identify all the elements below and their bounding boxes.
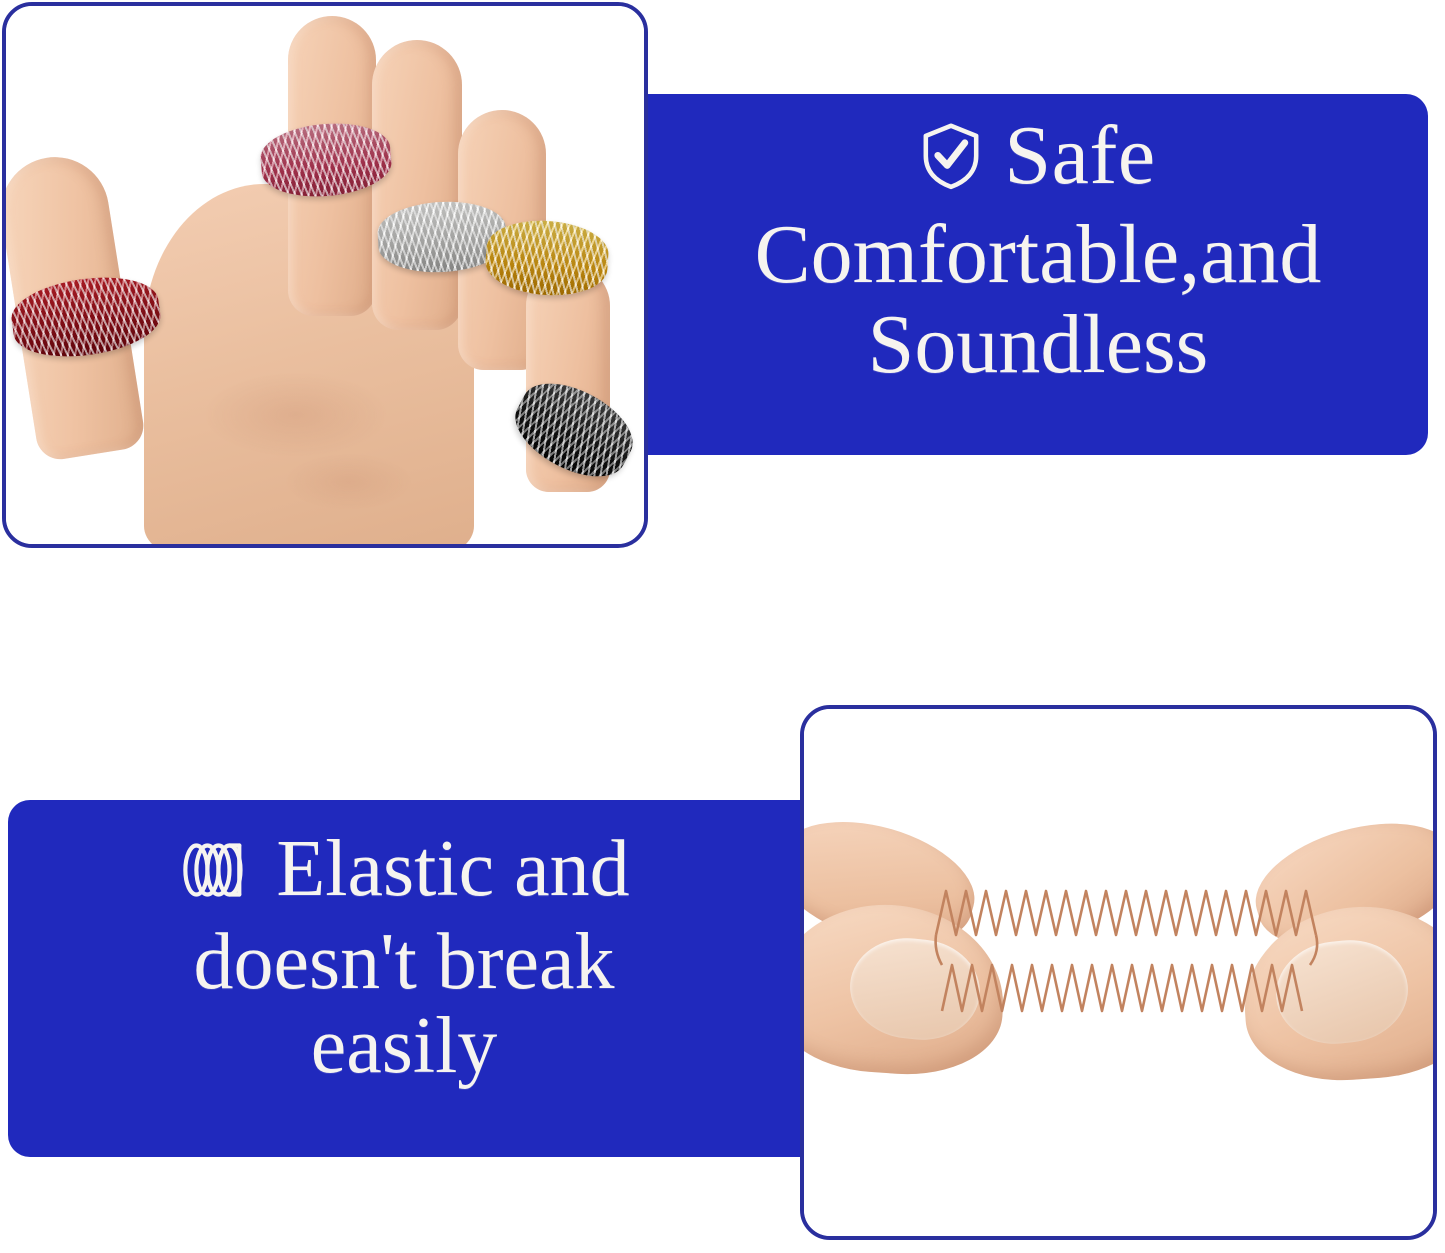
feature-banner-safe: Safe Comfortable,and Soundless — [648, 94, 1428, 455]
spring-ring-gold — [484, 217, 611, 299]
shield-check-icon — [920, 122, 982, 190]
spring-ring-pink — [258, 118, 394, 201]
feature-banner-elastic: Elastic and doesn't break easily — [8, 800, 800, 1157]
feature-line-3: easily — [311, 1006, 498, 1088]
feature-line-3: Soundless — [868, 302, 1209, 388]
stretched-coil-spring — [932, 877, 1322, 1025]
product-feature-infographic: Safe Comfortable,and Soundless Elastic a… — [0, 0, 1445, 1253]
feature-line-2: Comfortable,and — [755, 212, 1322, 298]
feature-line-1: Elastic and — [276, 829, 629, 911]
feature-line-2: doesn't break — [194, 922, 615, 1004]
feature-headline-row: Safe — [920, 100, 1155, 212]
coil-spring-icon — [178, 839, 254, 901]
hands-stretching-spring-photo — [800, 705, 1437, 1240]
spring-ring-black — [503, 367, 646, 492]
stretching-illustration — [804, 709, 1433, 1236]
hand-illustration — [6, 6, 644, 544]
feature-headline-row: Elastic and — [178, 818, 629, 922]
feature-line-1: Safe — [1004, 113, 1155, 199]
hand-wearing-spring-rings-photo — [2, 2, 648, 548]
